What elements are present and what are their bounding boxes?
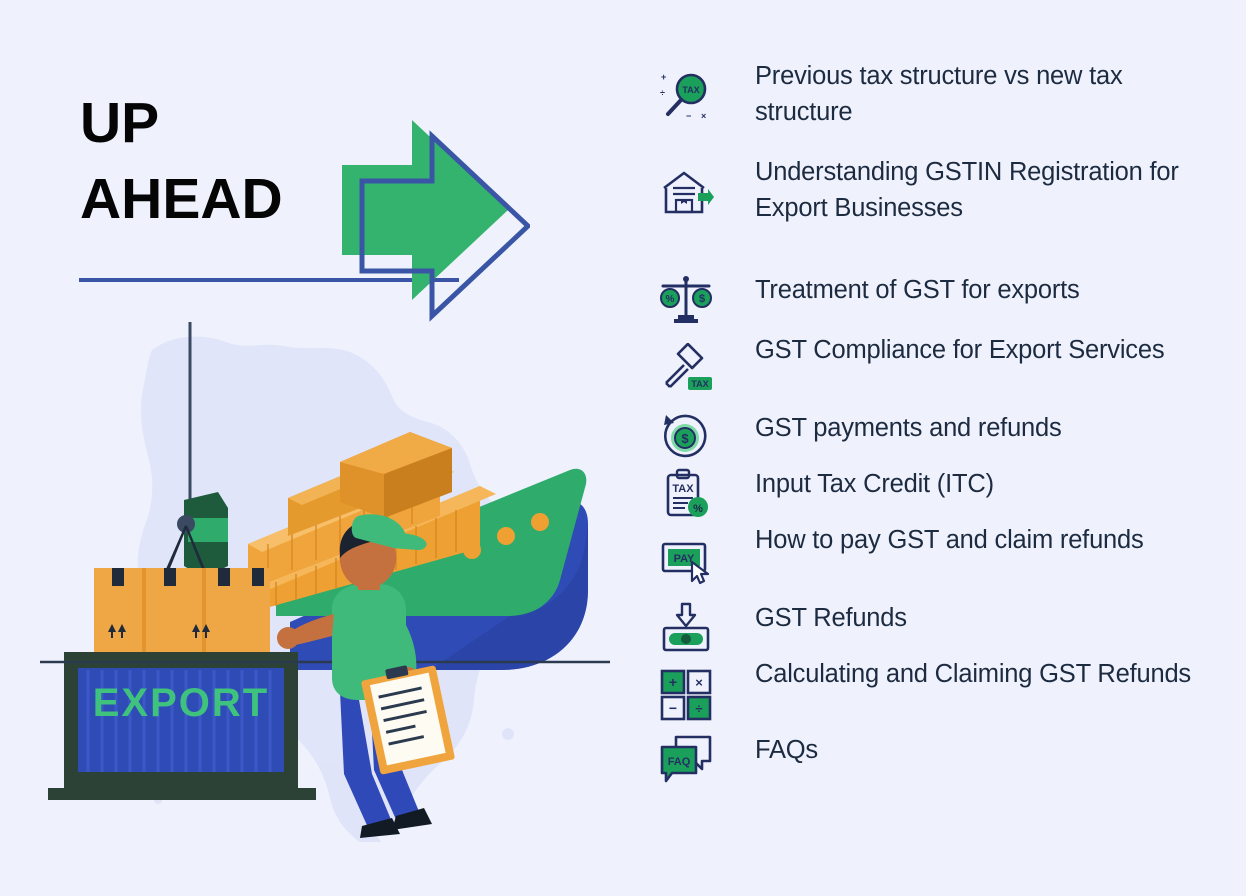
svg-text:$: $ <box>681 431 689 446</box>
calculator-keys-icon: + × − ÷ <box>655 664 717 722</box>
magnifier-tax-icon: TAX + ÷ − × <box>655 68 717 126</box>
svg-text:+: + <box>661 72 666 82</box>
list-item-label: Understanding GSTIN Registration for Exp… <box>755 152 1225 226</box>
cardboard-boxes <box>94 568 270 652</box>
right-arrow-icon <box>340 108 530 330</box>
refund-cycle-coin-icon: $ <box>655 408 717 466</box>
list-item-label: GST Refunds <box>755 598 907 636</box>
svg-text:×: × <box>695 675 703 690</box>
list-item[interactable]: $ GST payments and refunds <box>655 408 1225 464</box>
warehouse-registration-icon <box>655 164 717 222</box>
gavel-tax-icon: TAX <box>655 340 717 398</box>
svg-text:−: − <box>686 111 691 121</box>
svg-text:×: × <box>701 111 706 121</box>
left-panel: UP AHEAD <box>0 0 620 896</box>
list-item[interactable]: FAQ FAQs <box>655 730 1225 786</box>
export-container-label: EXPORT <box>93 681 269 725</box>
list-item-label: Previous tax structure vs new tax struct… <box>755 56 1225 130</box>
tax-clipboard-icon: TAX % <box>655 464 717 522</box>
svg-text:$: $ <box>699 293 705 305</box>
list-item[interactable]: TAX GST Compliance for Export Services <box>655 330 1225 408</box>
list-item[interactable]: TAX + ÷ − × Previous tax structure vs ne… <box>655 56 1225 152</box>
list-item-label: Calculating and Claiming GST Refunds <box>755 654 1191 692</box>
svg-text:FAQ: FAQ <box>668 756 691 768</box>
svg-text:÷: ÷ <box>660 88 665 98</box>
svg-text:TAX: TAX <box>682 85 699 95</box>
svg-text:%: % <box>666 294 675 305</box>
list-item-label: GST Compliance for Export Services <box>755 330 1164 368</box>
balance-scale-icon: % $ <box>655 270 717 328</box>
svg-text:−: − <box>669 700 677 716</box>
title-line-1: UP <box>80 85 380 161</box>
list-item-label: FAQs <box>755 730 818 768</box>
export-container: EXPORT <box>48 652 316 800</box>
list-item-label: Treatment of GST for exports <box>755 270 1080 308</box>
svg-text:÷: ÷ <box>695 701 702 716</box>
svg-text:TAX: TAX <box>691 379 708 389</box>
svg-text:%: % <box>693 503 703 515</box>
list-item[interactable]: Understanding GSTIN Registration for Exp… <box>655 152 1225 270</box>
list-item[interactable]: PAY How to pay GST and claim refunds <box>655 520 1225 598</box>
svg-text:TAX: TAX <box>672 483 694 495</box>
export-shipping-illustration: EXPORT <box>40 322 610 842</box>
list-item[interactable]: % $ Treatment of GST for exports <box>655 270 1225 330</box>
list-item[interactable]: GST Refunds <box>655 598 1225 654</box>
banknote-download-icon <box>655 598 717 656</box>
infographic-page: UP AHEAD <box>0 0 1246 896</box>
svg-text:+: + <box>669 674 677 690</box>
list-item[interactable]: TAX % Input Tax Credit (ITC) <box>655 464 1225 520</box>
faq-speech-bubbles-icon: FAQ <box>655 730 717 788</box>
porthole <box>497 527 515 545</box>
porthole <box>531 513 549 531</box>
title-line-2: AHEAD <box>80 161 380 237</box>
topics-list: TAX + ÷ − × Previous tax structure vs ne… <box>655 56 1225 786</box>
page-title: UP AHEAD <box>80 85 380 237</box>
list-item-label: How to pay GST and claim refunds <box>755 520 1144 558</box>
list-item[interactable]: + × − ÷ Calculating and Claiming GST Ref… <box>655 654 1225 730</box>
list-item-label: GST payments and refunds <box>755 408 1062 446</box>
list-item-label: Input Tax Credit (ITC) <box>755 464 994 502</box>
pay-button-cursor-icon: PAY <box>655 530 717 588</box>
